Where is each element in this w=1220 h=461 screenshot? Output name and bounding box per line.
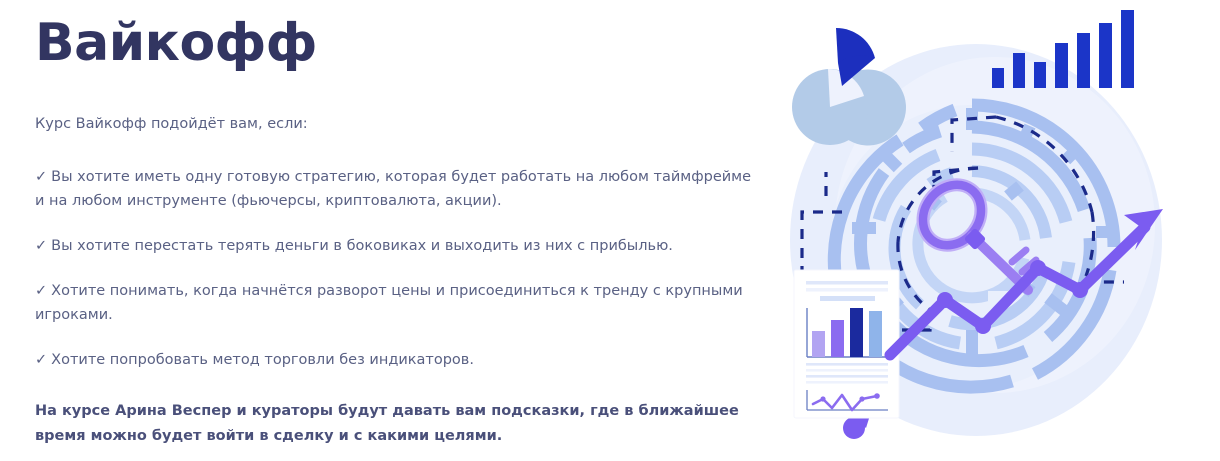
maze-key-growth-illustration <box>780 0 1220 461</box>
list-item-line1: Вы хотите иметь одну готовую стратегию, … <box>51 169 751 185</box>
page-title: Вайкофф <box>35 12 317 74</box>
benefits-list: ✓Вы хотите иметь одну готовую стратегию,… <box>35 165 775 372</box>
list-item-line2: и на любом инструменте (фьючерсы, крипто… <box>35 193 502 209</box>
list-item-line1: Хотите понимать, когда начнётся разворот… <box>35 283 743 323</box>
curators-paragraph: На курсе Арина Веспер и кураторы будут д… <box>35 399 775 449</box>
list-item: ✓Хотите понимать, когда начнётся разворо… <box>35 279 775 327</box>
promo-banner: Вайкофф Курс Вайкофф подойдёт вам, если:… <box>0 0 1220 461</box>
intro-paragraph: Курс Вайкофф подойдёт вам, если: <box>35 113 775 135</box>
pie-chart <box>792 28 906 145</box>
text-column: Вайкофф Курс Вайкофф подойдёт вам, если:… <box>35 0 775 461</box>
check-icon: ✓ <box>35 234 47 258</box>
check-icon: ✓ <box>35 348 47 372</box>
list-item: ✓Хотите попробовать метод торговли без и… <box>35 348 775 372</box>
check-icon: ✓ <box>35 279 47 303</box>
list-item-line1: Хотите попробовать метод торговли без ин… <box>51 352 474 368</box>
list-item: ✓Вы хотите перестать терять деньги в бок… <box>35 234 775 258</box>
list-item: ✓Вы хотите иметь одну готовую стратегию,… <box>35 165 775 213</box>
report-card <box>794 270 899 439</box>
list-item-line1: Вы хотите перестать терять деньги в боко… <box>51 238 673 254</box>
check-icon: ✓ <box>35 165 47 189</box>
body-copy: Курс Вайкофф подойдёт вам, если: ✓Вы хот… <box>35 113 775 461</box>
